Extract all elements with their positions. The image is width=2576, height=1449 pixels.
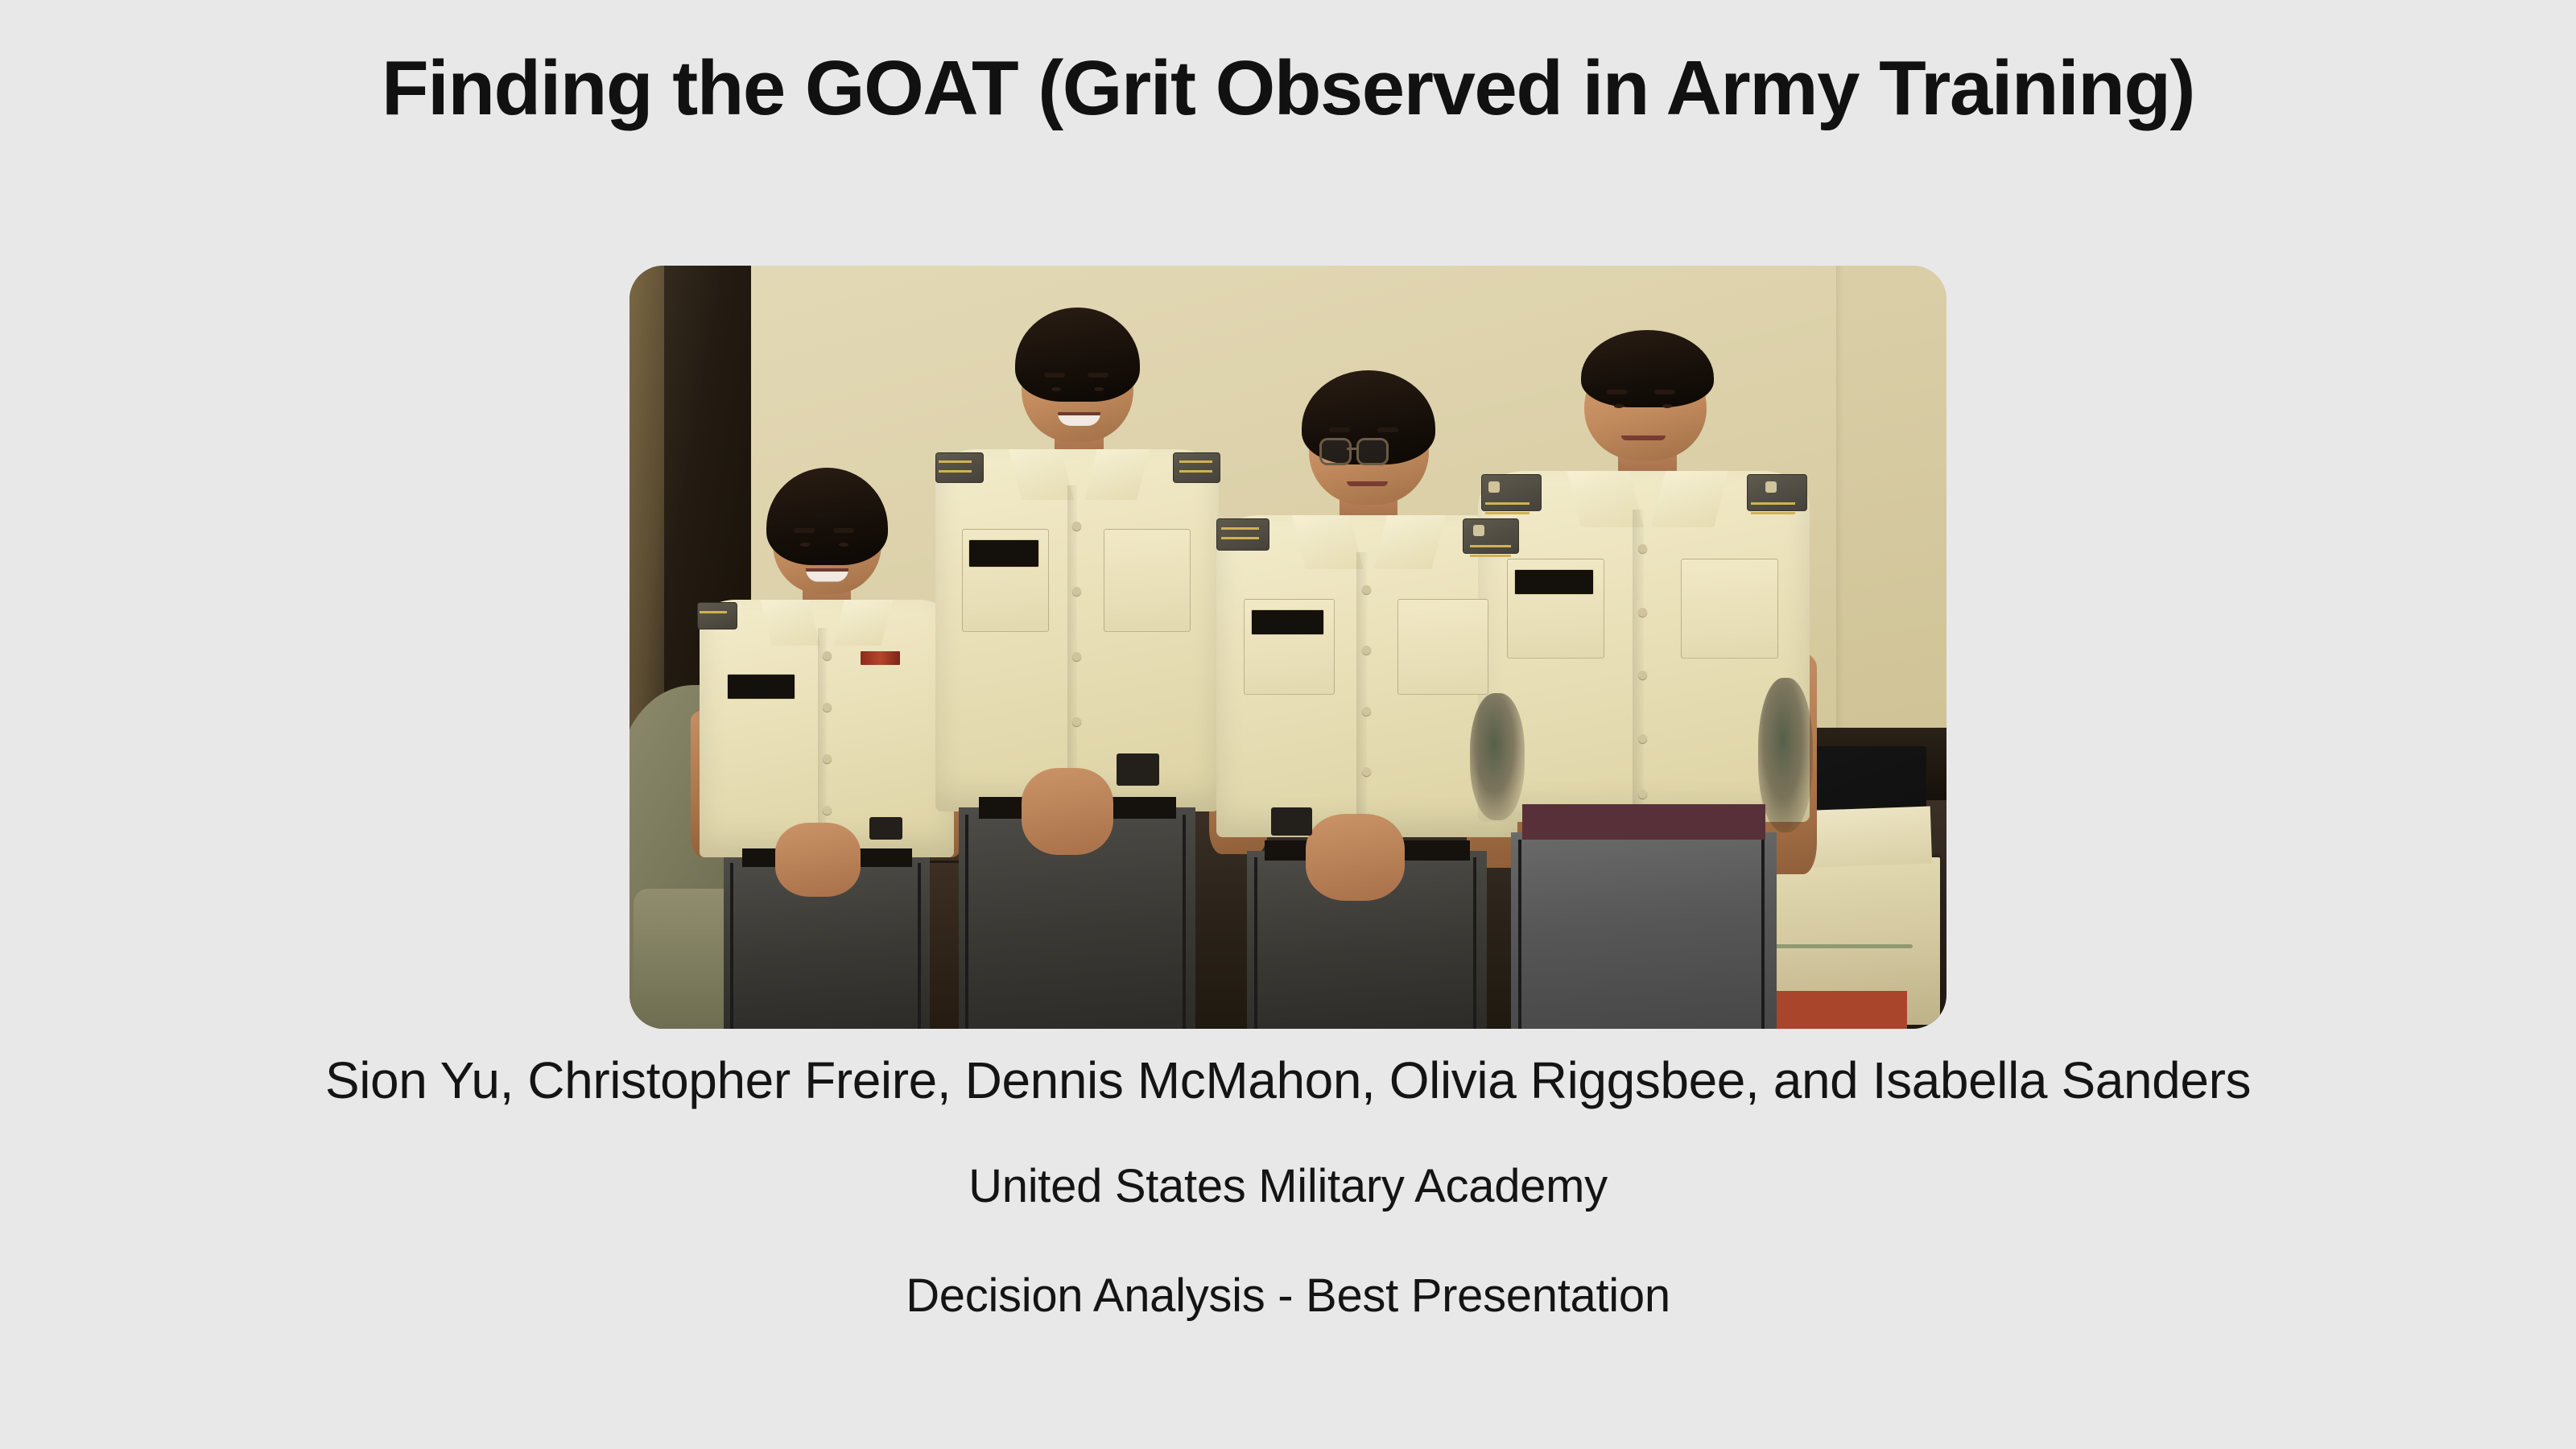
cadet-4-rank-stripe — [1751, 502, 1795, 505]
cadet-3-glasses — [1319, 438, 1422, 472]
cadet-4-shoulder-insignia — [1765, 481, 1777, 493]
cadet-4-rank-stripe — [1485, 502, 1529, 505]
cadet-4-trouser-stripe — [1518, 840, 1521, 1029]
cadet-4-placket — [1633, 510, 1644, 825]
cadet-4-shoulder-board-right — [1747, 474, 1807, 511]
cadet-2-trouser-stripe — [1183, 815, 1186, 1029]
cadet-1-rank-stripe — [700, 611, 727, 613]
cadet-2-button — [1072, 522, 1081, 530]
cadet-4-hair — [1581, 330, 1714, 407]
cadet-1-eye-right — [839, 543, 848, 547]
cadet-3-glasses-bridge — [1347, 448, 1356, 450]
cadet-2-rank-stripe — [1179, 470, 1212, 473]
cadet-3-brow-left — [1329, 427, 1350, 432]
cadet-1-button — [823, 754, 832, 763]
cadet-3-watch — [1271, 807, 1312, 836]
cadet-4-trouser-stripe — [1761, 840, 1765, 1029]
cadet-1-hands — [775, 823, 860, 897]
cadet-4-mouth — [1621, 436, 1666, 440]
cadet-3-brow-right — [1377, 427, 1398, 432]
cadet-3-rank-stripe — [1470, 555, 1511, 557]
cadet-1-ribbon — [861, 651, 900, 665]
cadet-1-name-tag — [727, 674, 795, 700]
cadet-2-placket — [1067, 485, 1077, 811]
cadet-2-brow-left — [1044, 373, 1065, 378]
cadet-1-torso — [700, 600, 954, 857]
cadet-2-eye-left — [1051, 387, 1061, 391]
cadet-2-rank-stripe — [1179, 460, 1212, 463]
cadet-3-shoulder-board-left — [1216, 518, 1269, 551]
cadet-4-pocket-right — [1681, 559, 1778, 658]
cadet-2-shoulder-board-right — [1173, 452, 1220, 483]
cadet-2-watch — [1117, 753, 1159, 786]
cadet-1-shoulder-board — [697, 602, 738, 630]
cadet-4-trousers — [1511, 832, 1777, 1029]
cadet-1-smile — [806, 568, 848, 582]
cadet-3-pocket-right — [1397, 599, 1488, 695]
cadet-2-hair — [1015, 308, 1140, 402]
cadet-2-name-tag — [968, 539, 1039, 567]
cadet-1-hair — [766, 468, 888, 565]
cadet-4-button — [1638, 734, 1647, 743]
cadet-3-shoulder-board-right — [1463, 518, 1519, 554]
cadet-2-hands — [1022, 768, 1114, 855]
cadet-3-placket — [1356, 552, 1367, 841]
cadet-3-button — [1362, 707, 1371, 716]
cadet-3-button — [1362, 767, 1371, 776]
award-line: Decision Analysis - Best Presentation — [0, 1265, 2576, 1326]
cadet-4-shoulder-insignia — [1488, 481, 1500, 493]
cadet-4-tattoo — [1758, 678, 1814, 832]
cadet-1-brow-right — [833, 528, 854, 533]
cadet-3-shoulder-insignia — [1473, 525, 1484, 536]
cadet-4 — [1459, 327, 1828, 1029]
cadet-4-belt — [1522, 804, 1765, 840]
cadet-3-lens-right — [1356, 438, 1389, 465]
cadet-3-mouth — [1347, 481, 1388, 486]
cadet-1-eye-left — [800, 543, 810, 547]
cadet-2-eye-right — [1094, 387, 1104, 391]
cadet-3-trouser-stripe — [1473, 857, 1476, 1029]
cadet-1-button — [823, 703, 832, 712]
cadet-3-hands — [1306, 814, 1405, 901]
cadet-1-watch — [869, 817, 902, 840]
cadet-4-eye-right — [1662, 404, 1672, 408]
cadet-2-button — [1072, 587, 1081, 596]
cadet-2-rank-stripe — [939, 460, 972, 463]
cadet-4-button — [1638, 671, 1647, 679]
cadet-1-button — [823, 806, 832, 815]
cadet-3-trouser-stripe — [1254, 857, 1257, 1029]
cadet-2-button — [1072, 717, 1081, 726]
cadet-2-brow-right — [1088, 373, 1108, 378]
cadet-2-button — [1072, 652, 1081, 661]
cadet-4-brow-left — [1607, 390, 1628, 394]
cadet-1-trouser-stripe — [918, 863, 921, 1029]
cadet-2 — [913, 303, 1242, 1029]
author-list: Sion Yu, Christopher Freire, Dennis McMa… — [0, 1046, 2576, 1114]
cadet-4-shoulder-board-left — [1481, 474, 1542, 511]
cadet-3-lens-left — [1319, 438, 1352, 465]
affiliation: United States Military Academy — [0, 1156, 2576, 1216]
caption-block: Sion Yu, Christopher Freire, Dennis McMa… — [0, 1046, 2576, 1326]
cadet-3-tattoo — [1470, 693, 1525, 821]
team-photo-canvas — [630, 266, 1946, 1029]
slide-title: Finding the GOAT (Grit Observed in Army … — [0, 47, 2576, 130]
cadet-4-rank-stripe — [1751, 512, 1795, 514]
cadet-4-eye-left — [1614, 404, 1624, 408]
cadet-1-trouser-stripe — [730, 863, 733, 1029]
cadet-3-rank-stripe — [1221, 527, 1259, 530]
cadet-3-name-tag — [1251, 609, 1324, 635]
cadet-1-brow-left — [794, 528, 815, 533]
presentation-slide: Finding the GOAT (Grit Observed in Army … — [0, 0, 2576, 1449]
cadet-2-rank-stripe — [939, 470, 972, 473]
team-photo — [630, 266, 1946, 1029]
cadet-2-shoulder-board-left — [935, 452, 983, 483]
cadet-4-rank-stripe — [1485, 512, 1529, 514]
cadet-4-button — [1638, 608, 1647, 617]
cadet-4-button — [1638, 544, 1647, 553]
cadet-3-rank-stripe — [1221, 537, 1259, 539]
cadet-1-button — [823, 651, 832, 660]
cadet-4-name-tag — [1514, 569, 1593, 596]
cadet-2-trouser-stripe — [965, 815, 968, 1029]
cadet-2-smile — [1058, 412, 1100, 426]
cadet-2-pocket-right — [1104, 529, 1191, 632]
cadet-4-brow-right — [1654, 390, 1675, 394]
cadet-3-rank-stripe — [1470, 545, 1511, 547]
